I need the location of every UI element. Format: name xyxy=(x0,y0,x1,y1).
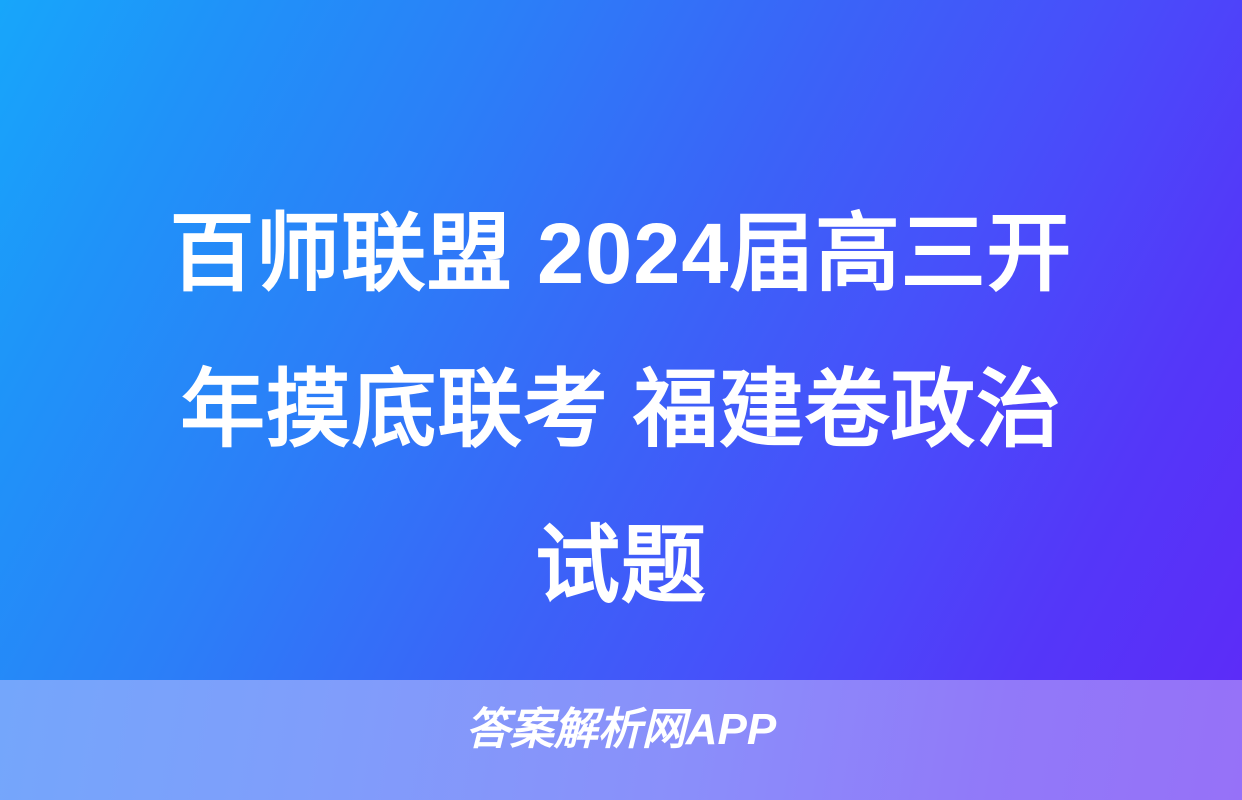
page-title: 百师联盟 2024届高三开 年摸底联考 福建卷政治 试题 xyxy=(0,176,1242,644)
title-line-3: 试题 xyxy=(74,488,1167,644)
title-line-2: 年摸底联考 福建卷政治 xyxy=(74,332,1167,488)
exam-cover-card: 百师联盟 2024届高三开 年摸底联考 福建卷政治 试题 答案解析网APP xyxy=(0,0,1242,800)
watermark-label: 答案解析网APP xyxy=(466,702,776,758)
watermark: 答案解析网APP xyxy=(0,702,1242,758)
title-line-1: 百师联盟 2024届高三开 xyxy=(74,176,1167,332)
